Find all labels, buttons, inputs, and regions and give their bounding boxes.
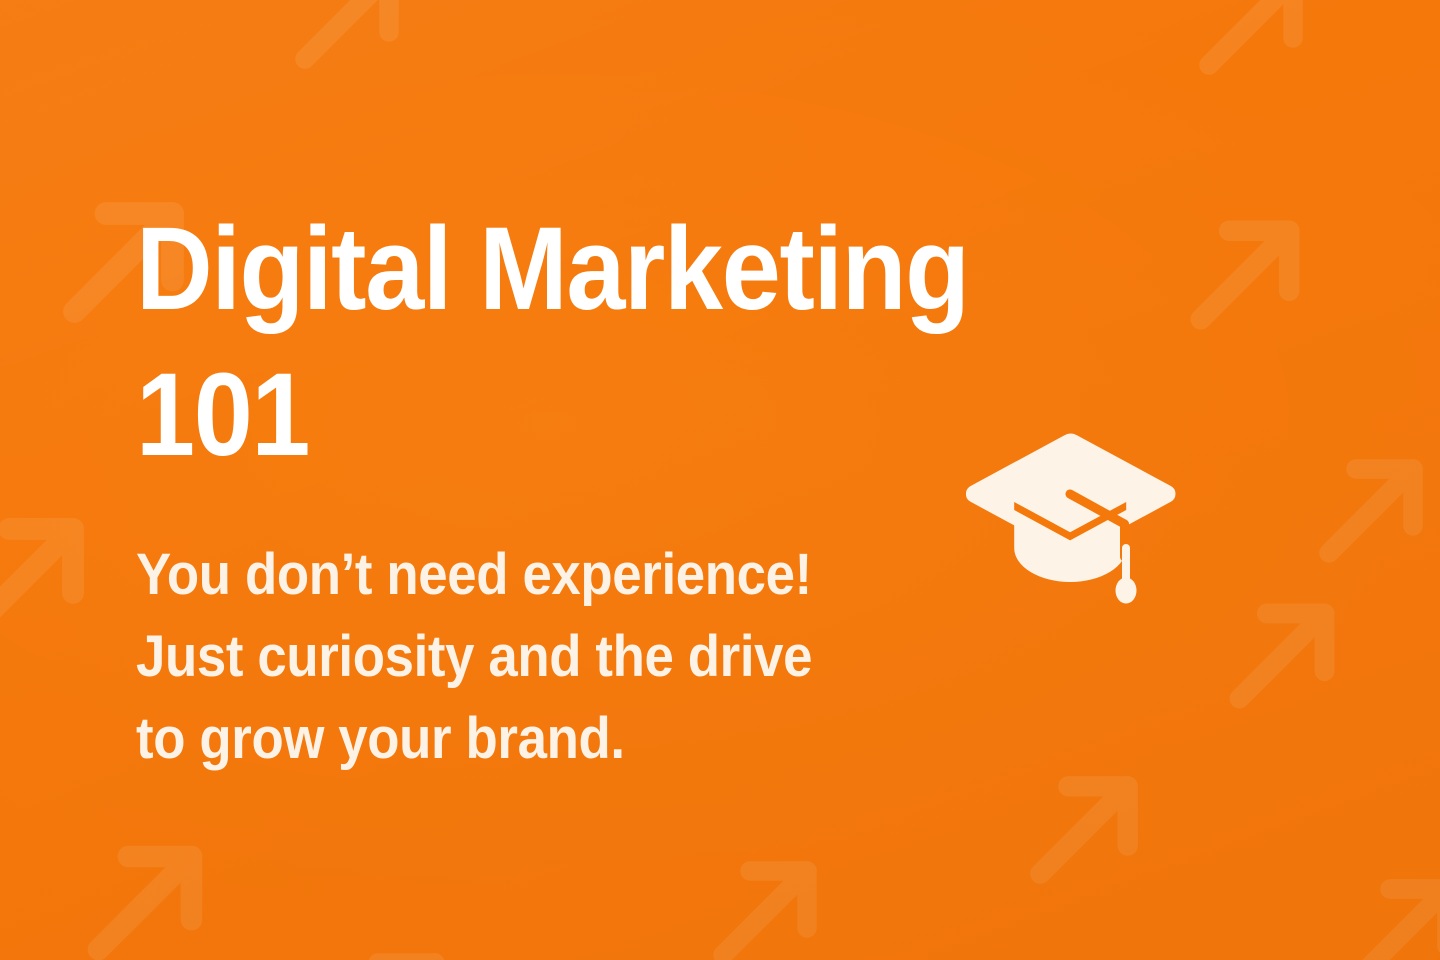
content-layer: Digital Marketing 101 You don’t need exp… — [0, 0, 1440, 960]
page-title: Digital Marketing 101 — [136, 196, 1036, 488]
promo-card: Digital Marketing 101 You don’t need exp… — [0, 0, 1440, 960]
graduation-cap-icon — [966, 432, 1176, 616]
subtitle-text: You don’t need experience! Just curiosit… — [136, 534, 1001, 780]
